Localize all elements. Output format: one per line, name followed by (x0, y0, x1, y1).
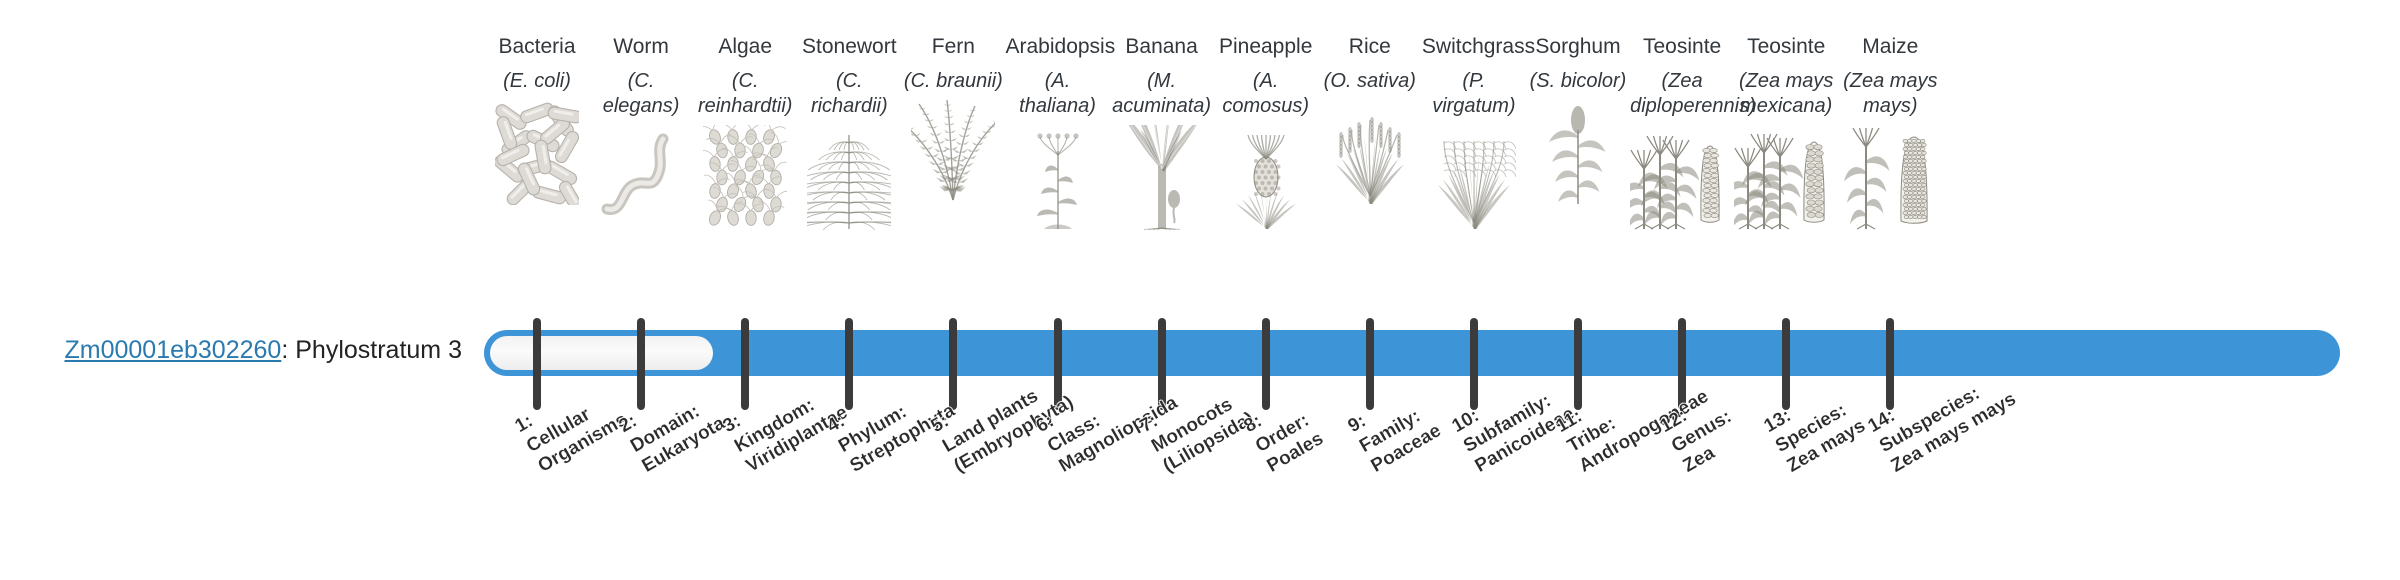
species-common-name: Fern (901, 34, 1005, 60)
banana-icon (1110, 125, 1214, 230)
rank-label-13: 13: Species: Zea mays (1760, 375, 1870, 478)
phylostratum-tick-1[interactable] (533, 318, 541, 410)
species-common-name: Teosinte (1630, 34, 1734, 60)
species-column-rice-8: Rice(O. sativa) (1318, 34, 1422, 205)
arabidopsis-icon (1006, 125, 1110, 230)
rank-label-1: 1: Cellular Organisms (511, 368, 631, 477)
species-latin-name: (M. acuminata) (1110, 69, 1214, 119)
phylostratum-tick-13[interactable] (1782, 318, 1790, 410)
species-column-bacteria-0: Bacteria(E. coli) (485, 34, 589, 205)
pineapple-icon (1214, 125, 1318, 230)
rank-label-2: 2: Domain: Eukaryota (615, 372, 729, 478)
gene-label-separator: : (281, 336, 295, 364)
phylostratum-tick-10[interactable] (1470, 318, 1478, 410)
worm-icon (589, 125, 693, 230)
species-common-name: Rice (1318, 34, 1422, 60)
phylostratum-value-text: Phylostratum 3 (295, 336, 462, 364)
species-latin-name: (A. thaliana) (1006, 69, 1110, 119)
species-latin-name: (Zea diploperennis) (1630, 69, 1734, 119)
species-latin-name: (Zea mays mexicana) (1734, 69, 1838, 119)
phylostratum-tick-5[interactable] (949, 318, 957, 410)
species-column-arabidopsis-5: Arabidopsis(A. thaliana) (1006, 34, 1110, 230)
phylostratum-tick-14[interactable] (1886, 318, 1894, 410)
species-latin-name: (A. comosus) (1214, 69, 1318, 119)
species-column-teosinte-12: Teosinte(Zea mays mexicana) (1734, 34, 1838, 230)
gene-id-link[interactable]: Zm00001eb302260 (64, 336, 281, 364)
rank-text: Order: Poales (1252, 410, 1327, 477)
species-latin-name: (E. coli) (485, 69, 589, 94)
phylostratum-unfilled-region (490, 336, 713, 370)
species-column-switchgrass-9: Switchgrass(P. virgatum) (1422, 34, 1526, 230)
species-common-name: Stonewort (797, 34, 901, 60)
rice-icon (1318, 100, 1422, 205)
rank-label-9: 9: Family: Poaceae (1344, 379, 1445, 477)
gene-phylostratum-label: Zm00001eb302260: Phylostratum 3 (42, 336, 462, 365)
species-latin-name: (P. virgatum) (1422, 69, 1526, 119)
species-common-name: Bacteria (485, 34, 589, 60)
sorghum-icon (1526, 100, 1630, 205)
species-latin-name: (Zea mays mays) (1838, 69, 1942, 119)
species-common-name: Switchgrass (1422, 34, 1526, 60)
species-common-name: Maize (1838, 34, 1942, 60)
phylostratum-tick-8[interactable] (1262, 318, 1270, 410)
rank-text: Family: Poaceae (1356, 406, 1445, 477)
switchgrass-icon (1422, 125, 1526, 230)
phylostratum-tick-11[interactable] (1574, 318, 1582, 410)
species-common-name: Pineapple (1214, 34, 1318, 60)
species-column-worm-1: Worm(C. elegans) (589, 34, 693, 230)
species-column-stonewort-3: Stonewort(C. richardii) (797, 34, 901, 230)
species-column-banana-6: Banana(M. acuminata) (1110, 34, 1214, 230)
species-common-name: Worm (589, 34, 693, 60)
species-column-fern-4: Fern(C. braunii) (901, 34, 1005, 205)
stonewort-icon (797, 125, 901, 230)
species-column-teosinte-11: Teosinte(Zea diploperennis) (1630, 34, 1734, 230)
species-common-name: Teosinte (1734, 34, 1838, 60)
phylostratum-figure: Zm00001eb302260: Phylostratum 3 Bacteria… (0, 0, 2400, 580)
species-latin-name: (C. richardii) (797, 69, 901, 119)
species-latin-name: (C. reinhardtii) (693, 69, 797, 119)
phylostratum-tick-4[interactable] (845, 318, 853, 410)
rank-text: Monocots (Liliopsida) (1148, 394, 1258, 477)
fern-icon (901, 100, 1005, 205)
maize-icon (1838, 125, 1942, 230)
species-common-name: Arabidopsis (1006, 34, 1110, 60)
species-column-pineapple-7: Pineapple(A. comosus) (1214, 34, 1318, 230)
rank-label-8: 8: Order: Poales (1240, 387, 1328, 477)
bacteria-icon (485, 100, 589, 205)
species-column-sorghum-10: Sorghum(S. bicolor) (1526, 34, 1630, 205)
rank-text: Domain: Eukaryota (627, 401, 729, 477)
species-common-name: Banana (1110, 34, 1214, 60)
species-column-algae-2: Algae(C. reinhardtii) (693, 34, 797, 230)
species-column-maize-13: Maize(Zea mays mays) (1838, 34, 1942, 230)
species-common-name: Algae (693, 34, 797, 60)
rank-text: Cellular Organisms (523, 404, 631, 477)
species-common-name: Sorghum (1526, 34, 1630, 60)
phylostratum-tick-2[interactable] (637, 318, 645, 410)
species-latin-name: (C. elegans) (589, 69, 693, 119)
teosinte-diploperennis-icon (1630, 125, 1734, 230)
phylostratum-progress-bar[interactable] (484, 330, 2340, 376)
teosinte-mexicana-icon (1734, 125, 1838, 230)
species-latin-name: (C. braunii) (901, 69, 1005, 94)
phylostratum-tick-3[interactable] (741, 318, 749, 410)
rank-text: Subspecies: Zea mays mays (1876, 383, 2020, 477)
species-latin-name: (S. bicolor) (1526, 69, 1630, 94)
phylostratum-tick-9[interactable] (1366, 318, 1374, 410)
species-latin-name: (O. sativa) (1318, 69, 1422, 94)
algae-icon (693, 125, 797, 230)
